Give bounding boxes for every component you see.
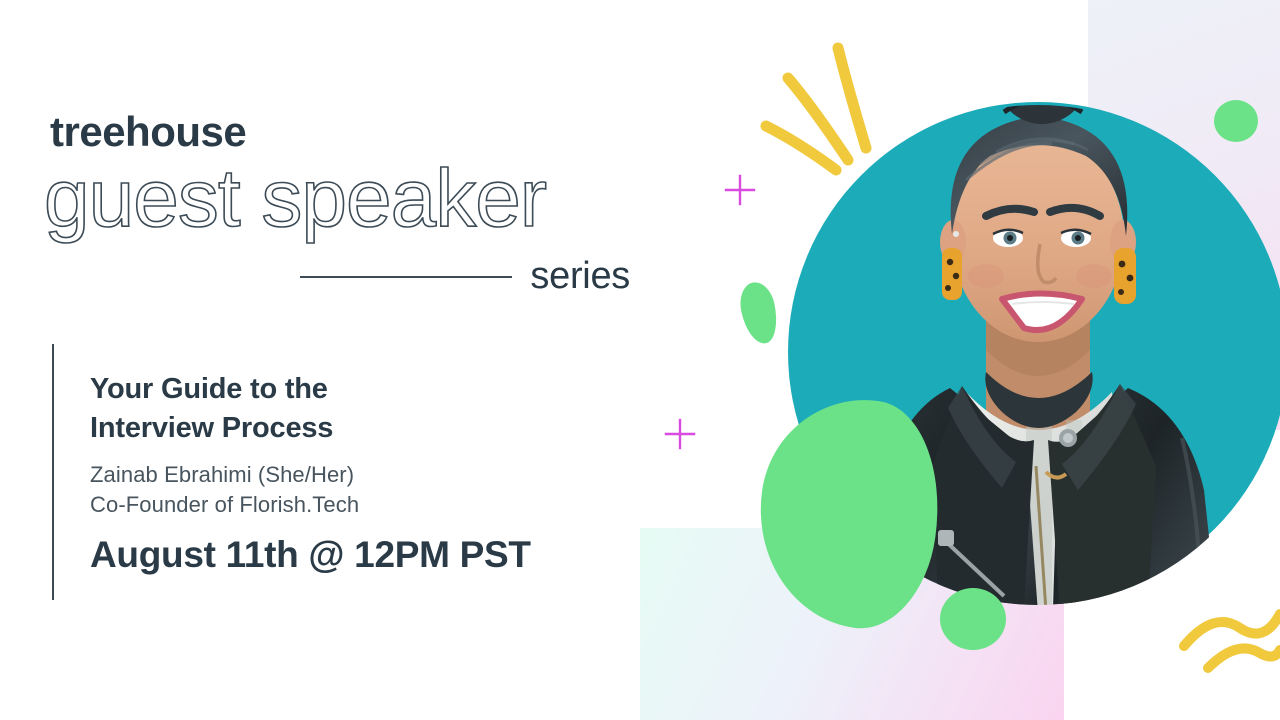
event-datetime: August 11th @ 12PM PST — [90, 534, 531, 576]
poster-canvas: treehouse guest speaker series Your Guid… — [0, 0, 1280, 720]
green-blob-small-left — [736, 279, 782, 347]
speaker-role: Co-Founder of Florish.Tech — [90, 492, 359, 518]
series-divider-rule — [300, 276, 512, 278]
plus-mark-lower — [666, 420, 694, 448]
headline-guest-speaker: guest speaker — [44, 158, 546, 240]
series-label: series — [530, 255, 630, 298]
vertical-accent-bar — [52, 344, 54, 600]
plus-mark-upper — [726, 176, 754, 204]
talk-title-line-1: Your Guide to the — [90, 373, 328, 405]
series-row: series — [300, 255, 630, 298]
talk-title: Your Guide to the Interview Process — [90, 370, 610, 449]
green-blob-round-bottom — [940, 588, 1006, 650]
speaker-name: Zainab Ebrahimi (She/Her) — [90, 462, 354, 488]
talk-title-line-2: Interview Process — [90, 412, 333, 444]
brand-name: treehouse — [50, 108, 246, 156]
